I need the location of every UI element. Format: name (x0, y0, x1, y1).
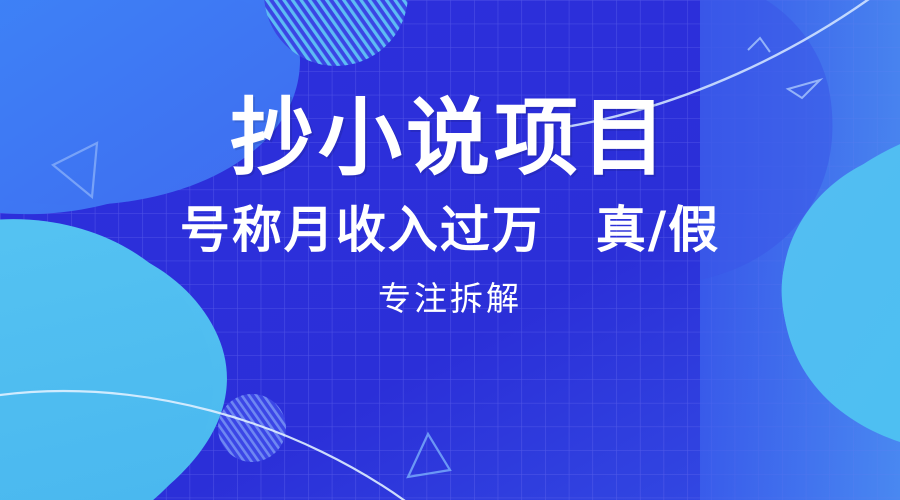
promo-poster: 抄小说项目 号称月收入过万 真/假 专注拆解 (0, 0, 900, 500)
poster-background (0, 0, 900, 500)
